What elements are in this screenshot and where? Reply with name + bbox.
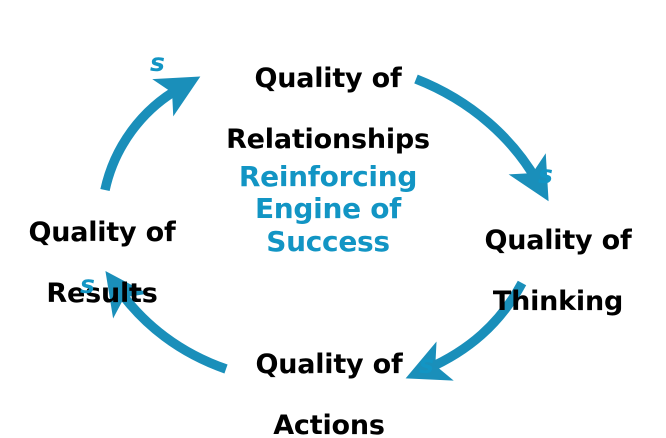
node-quality-of-actions: Quality of Actions [226, 320, 432, 438]
center-title-line-1: Reinforcing [218, 161, 438, 193]
polarity-label-results-to-relationships: s [150, 50, 165, 75]
node-quality-of-thinking: Quality of Thinking [455, 196, 661, 347]
node-label-line-2: Thinking [455, 287, 661, 317]
polarity-label-relationships-to-thinking: s [538, 162, 553, 187]
node-label-line-1: Quality of [203, 64, 453, 94]
node-label-line-1: Quality of [8, 218, 196, 248]
center-title-line-2: Engine of [218, 193, 438, 225]
causal-loop-diagram: Quality of Relationships Quality of Thin… [0, 0, 666, 438]
node-label-line-1: Quality of [455, 226, 661, 256]
center-title-line-3: Success [218, 226, 438, 258]
polarity-label-actions-to-results: s [80, 272, 95, 297]
arrow-results-to-relationships [105, 88, 180, 190]
node-label-line-2: Results [8, 279, 196, 309]
node-quality-of-results: Quality of Results [8, 188, 196, 339]
node-label-line-2: Actions [226, 411, 432, 438]
polarity-label-thinking-to-actions: s [419, 352, 434, 377]
node-label-line-1: Quality of [226, 350, 432, 380]
node-label-line-2: Relationships [203, 125, 453, 155]
center-title: Reinforcing Engine of Success [218, 161, 438, 258]
